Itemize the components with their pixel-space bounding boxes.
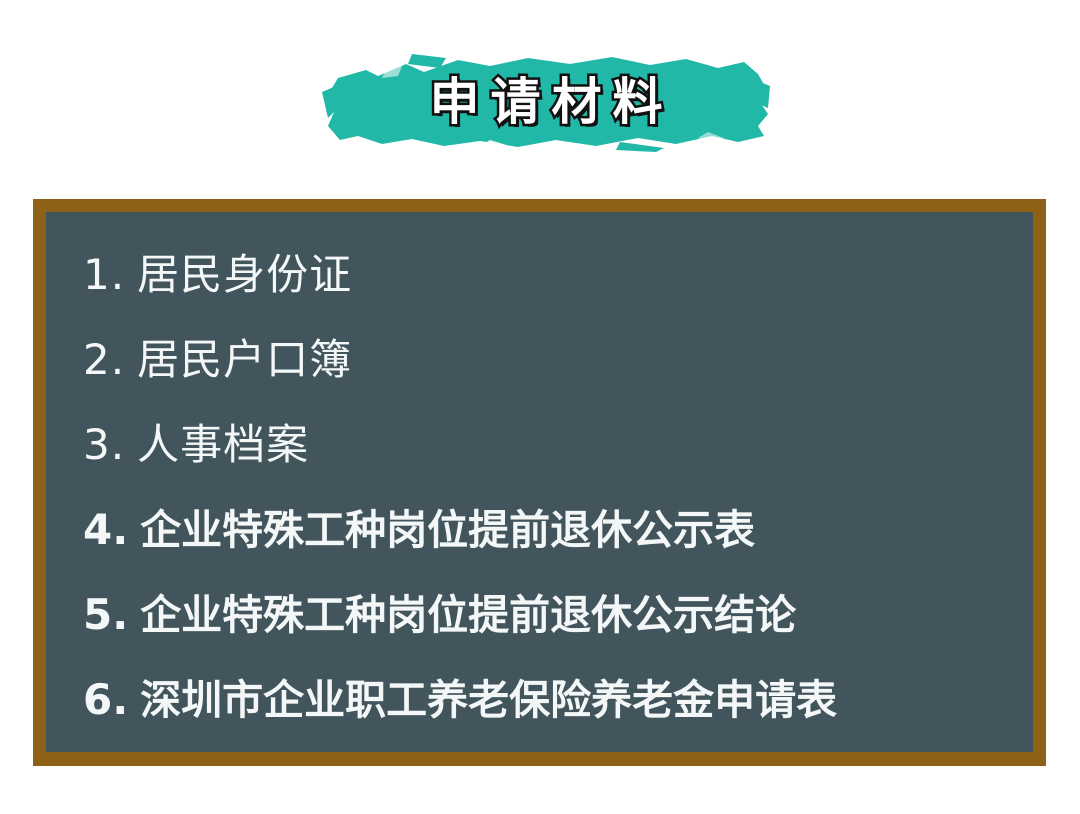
- list-item: 1. 居民身份证: [83, 254, 1003, 339]
- materials-frame: 1. 居民身份证 2. 居民户口簿 3. 人事档案 4. 企业特殊工种岗位提前退…: [33, 199, 1046, 766]
- list-item: 4. 企业特殊工种岗位提前退休公示表: [83, 509, 1003, 594]
- list-item: 3. 人事档案: [83, 424, 1003, 509]
- list-item-label: 企业特殊工种岗位提前退休公示结论: [140, 595, 796, 636]
- page-title: 申请材料: [320, 52, 772, 152]
- list-item-number: 2.: [83, 339, 125, 381]
- materials-panel: 1. 居民身份证 2. 居民户口簿 3. 人事档案 4. 企业特殊工种岗位提前退…: [46, 212, 1033, 752]
- list-item: 5. 企业特殊工种岗位提前退休公示结论: [83, 594, 1003, 679]
- materials-list: 1. 居民身份证 2. 居民户口簿 3. 人事档案 4. 企业特殊工种岗位提前退…: [83, 254, 1003, 764]
- list-item-number: 1.: [83, 254, 125, 296]
- list-item-label: 居民户口簿: [137, 339, 352, 381]
- list-item-label: 深圳市企业职工养老保险养老金申请表: [140, 680, 837, 721]
- list-item-number: 4.: [83, 509, 128, 551]
- page-root: 申请材料 1. 居民身份证 2. 居民户口簿 3. 人事档案 4.: [0, 0, 1080, 814]
- list-item-number: 3.: [83, 424, 125, 466]
- list-item-label: 人事档案: [137, 424, 309, 466]
- list-item-number: 6.: [83, 679, 128, 721]
- title-banner: 申请材料: [320, 52, 772, 152]
- list-item: 2. 居民户口簿: [83, 339, 1003, 424]
- list-item: 6. 深圳市企业职工养老保险养老金申请表: [83, 679, 1003, 764]
- list-item-number: 5.: [83, 594, 128, 636]
- list-item-label: 企业特殊工种岗位提前退休公示表: [140, 510, 755, 551]
- list-item-label: 居民身份证: [137, 254, 352, 296]
